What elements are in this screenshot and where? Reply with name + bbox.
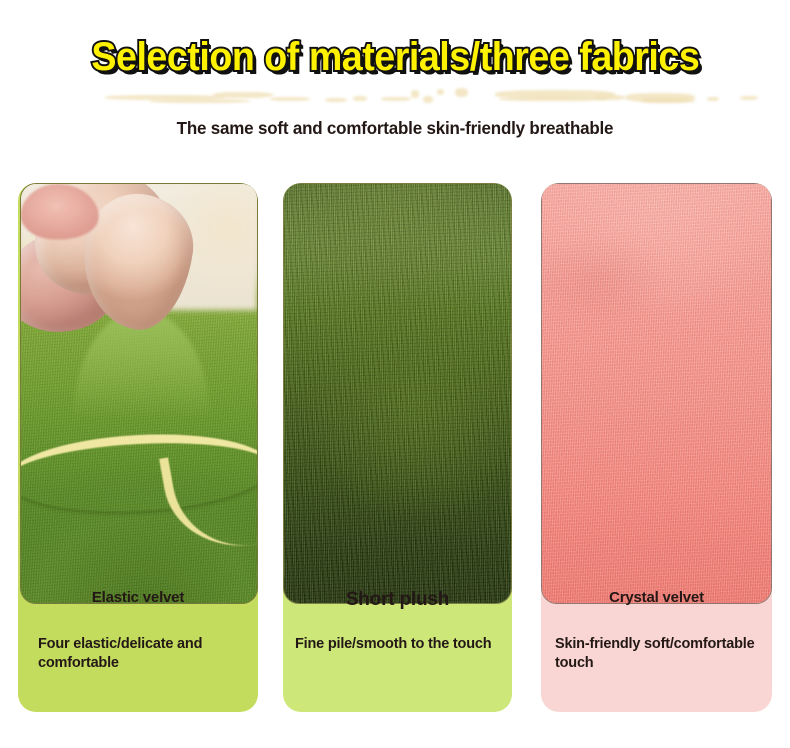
card-label-panel: Elastic velvet Four elastic/delicate and… [18, 567, 258, 712]
fabric-card-crystal-velvet: Crystal velvet Skin-friendly soft/comfor… [541, 183, 772, 712]
crystal-velvet-texture [542, 184, 771, 603]
card-label-panel: Short plush Fine pile/smooth to the touc… [283, 567, 512, 712]
fabric-name: Elastic velvet [18, 589, 258, 606]
green-elastic-velvet-swatch [20, 183, 258, 604]
pink-crystal-velvet-swatch [541, 183, 772, 604]
fabric-name: Crystal velvet [541, 589, 772, 606]
fabric-description: Four elastic/delicate and comfortable [38, 635, 249, 672]
olive-short-plush-swatch [283, 183, 512, 604]
fabric-description: Skin-friendly soft/comfortable touch [555, 635, 768, 672]
fabric-card-list: Elastic velvet Four elastic/delicate and… [0, 0, 790, 748]
card-label-panel: Crystal velvet Skin-friendly soft/comfor… [541, 567, 772, 712]
fabric-name: Short plush [283, 589, 512, 611]
fabric-card-short-plush: Short plush Fine pile/smooth to the touc… [283, 183, 512, 712]
fabric-card-elastic-velvet: Elastic velvet Four elastic/delicate and… [18, 183, 258, 712]
fabric-description: Fine pile/smooth to the touch [295, 635, 512, 654]
short-plush-texture [284, 184, 511, 603]
infographic-page: Selection of materials/three fabrics The… [0, 0, 790, 748]
